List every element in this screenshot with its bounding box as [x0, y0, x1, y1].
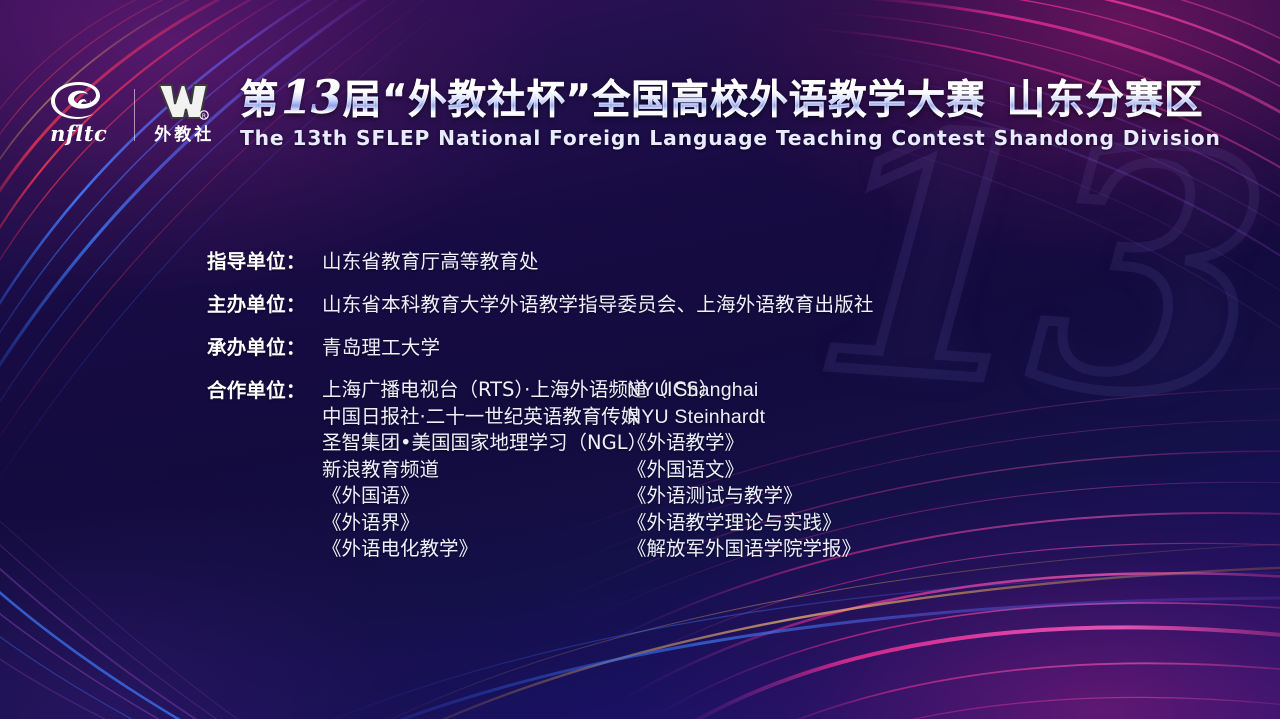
partners-right-column: NYU Shanghai NYU Steinhardt 《外语教学》 《外国语文…	[627, 377, 861, 563]
title-cn-prefix: 第	[240, 77, 279, 123]
partner-item: 《外语测试与教学》	[627, 483, 861, 510]
title-cn-region: 山东分赛区	[1006, 77, 1203, 123]
info-value: 青岛理工大学	[322, 334, 440, 361]
logo-divider	[134, 89, 135, 141]
partner-item: 《外国语》	[322, 483, 627, 510]
logo-block: nfltc R 外教社	[37, 80, 218, 144]
info-label-colon: ：	[286, 293, 306, 316]
partners-left-column: 上海广播电视台（RTS）·上海外语频道（ICS） 中国日报社·二十一世纪英语教育…	[322, 377, 627, 563]
partner-item: 上海广播电视台（RTS）·上海外语频道（ICS）	[322, 377, 627, 404]
title-chinese: 第13届“外教社杯”全国高校外语教学大赛山东分赛区	[240, 74, 1203, 122]
info-row-host: 主办单位： 山东省本科教育大学外语教学指导委员会、上海外语教育出版社	[207, 291, 874, 318]
info-row-guidance: 指导单位： 山东省教育厅高等教育处	[207, 248, 874, 275]
info-row-organizer: 承办单位： 青岛理工大学	[207, 334, 874, 361]
partner-item: 中国日报社·二十一世纪英语教育传媒	[322, 404, 627, 431]
info-label: 合作单位：	[207, 377, 322, 404]
partner-item: NYU Shanghai	[627, 377, 861, 404]
title-english: The 13th SFLEP National Foreign Language…	[240, 126, 1229, 150]
info-label: 指导单位：	[207, 248, 322, 275]
partner-item: 《外国语文》	[627, 457, 861, 484]
nfltc-wordmark: nfltc	[50, 123, 107, 144]
info-label-text: 承办单位	[207, 336, 286, 359]
poster-stage: 13	[0, 0, 1280, 719]
info-label-text: 指导单位	[207, 250, 286, 273]
info-label: 承办单位：	[207, 334, 322, 361]
title-cn-number: 13	[279, 70, 342, 124]
info-label-text: 主办单位	[207, 293, 286, 316]
swirl-glyph	[48, 80, 110, 122]
organizers-info: 指导单位： 山东省教育厅高等教育处 主办单位： 山东省本科教育大学外语教学指导委…	[207, 248, 874, 563]
info-value: 山东省本科教育大学外语教学指导委员会、上海外语教育出版社	[322, 291, 874, 318]
info-label-text: 合作单位	[207, 379, 286, 402]
w-shield-logo-icon: R 外教社	[148, 82, 218, 144]
nflec-swirl-logo-icon: nfltc	[37, 80, 121, 144]
svg-text:R: R	[202, 113, 206, 120]
info-row-partners: 合作单位： 上海广播电视台（RTS）·上海外语频道（ICS） 中国日报社·二十一…	[207, 377, 874, 563]
partner-item: 《解放军外国语学院学报》	[627, 536, 861, 563]
partner-item: 新浪教育频道	[322, 457, 627, 484]
partner-item: 圣智集团•美国国家地理学习（NGL）	[322, 430, 627, 457]
info-label-colon: ：	[286, 379, 306, 402]
info-label-colon: ：	[286, 336, 306, 359]
w-glyph: R	[155, 82, 211, 124]
watermark-13: 13	[806, 115, 1267, 416]
info-value: 山东省教育厅高等教育处	[322, 248, 539, 275]
partners-columns: 上海广播电视台（RTS）·上海外语频道（ICS） 中国日报社·二十一世纪英语教育…	[322, 377, 861, 563]
partner-item: 《外语界》	[322, 510, 627, 537]
title-cn-main: 届“外教社杯”全国高校外语教学大赛	[342, 77, 985, 123]
title-group: 第13届“外教社杯”全国高校外语教学大赛山东分赛区 The 13th SFLEP…	[240, 74, 1244, 150]
info-label-colon: ：	[286, 250, 306, 273]
partner-item: 《外语电化教学》	[322, 536, 627, 563]
sflep-publisher-label: 外教社	[151, 127, 214, 144]
info-label: 主办单位：	[207, 291, 322, 318]
partner-item: 《外语教学理论与实践》	[627, 510, 861, 537]
partner-item: NYU Steinhardt	[627, 404, 861, 431]
partner-item: 《外语教学》	[627, 430, 861, 457]
poster-header: nfltc R 外教社 第13届“外教社杯”全国高校外语教学大赛山东分赛区 Th…	[0, 74, 1280, 150]
